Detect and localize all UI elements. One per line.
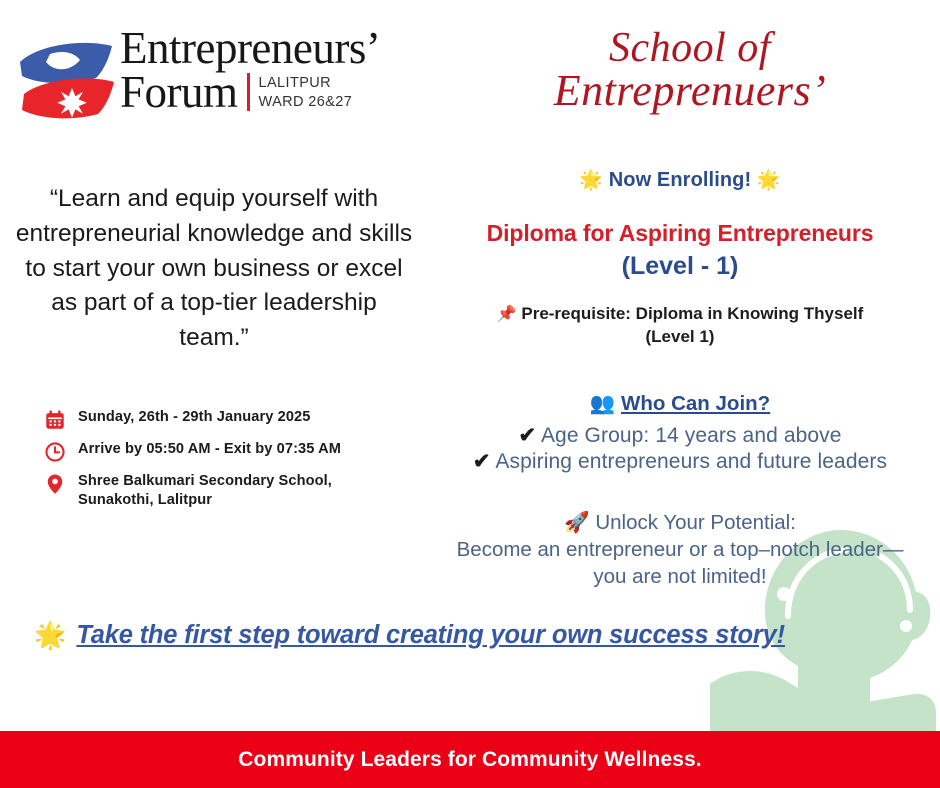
script-title-line-2: Entreprenuers’ (470, 67, 910, 115)
who-can-join-heading: 👥 Who Can Join? (432, 392, 928, 416)
calendar-icon (44, 409, 66, 431)
program-info-column: 🌟 Now Enrolling! 🌟 Diploma for Aspiring … (432, 168, 928, 590)
prerequisite-block: 📌 Pre-requisite: Diploma in Knowing Thys… (432, 303, 928, 349)
busts-in-silhouette-icon: 👥 (590, 392, 616, 415)
who-can-join-list: ✔ Age Group: 14 years and above ✔ Aspiri… (432, 423, 928, 477)
call-to-action-text: Take the first step toward creating your… (76, 621, 785, 650)
list-item: ✔ Aspiring entrepreneurs and future lead… (432, 449, 928, 476)
star-icon: 🌟 (34, 620, 66, 651)
footer-bar: Community Leaders for Community Wellness… (0, 731, 940, 788)
logo-subtitle-line-1: LALITPUR (259, 75, 332, 91)
diploma-title: Diploma for Aspiring Entrepreneurs (432, 220, 928, 247)
flyer-header: Entrepreneurs’ Forum LALITPUR WARD 26&27… (0, 0, 940, 160)
unlock-line-3: you are not limited! (432, 563, 928, 590)
list-item-label: Age Group: 14 years and above (541, 424, 842, 447)
event-detail-location: Shree Balkumari Secondary School, Sunako… (44, 472, 414, 511)
now-enrolling-label: Now Enrolling! (609, 169, 752, 191)
checkmark-icon: ✔ (518, 424, 536, 447)
logo-line-1: Entrepreneurs’ (120, 26, 380, 70)
list-item-label: Aspiring entrepreneurs and future leader… (495, 450, 887, 473)
event-detail-time: Arrive by 05:50 AM - Exit by 07:35 AM (44, 440, 414, 463)
nepal-flag-brush-logo-icon (16, 28, 116, 132)
list-item: ✔ Age Group: 14 years and above (432, 423, 928, 450)
entrepreneurs-forum-logo: Entrepreneurs’ Forum LALITPUR WARD 26&27 (16, 24, 380, 132)
event-date-text: Sunday, 26th - 29th January 2025 (78, 408, 310, 427)
prerequisite-text: Pre-requisite: Diploma in Knowing Thysel… (521, 304, 863, 323)
star-icon-left: 🌟 (579, 170, 603, 191)
pushpin-icon: 📌 (497, 306, 517, 323)
now-enrolling-banner: 🌟 Now Enrolling! 🌟 (432, 168, 928, 192)
unlock-line-1: Unlock Your Potential: (595, 511, 796, 534)
event-detail-date: Sunday, 26th - 29th January 2025 (44, 408, 414, 431)
event-time-text: Arrive by 05:50 AM - Exit by 07:35 AM (78, 440, 341, 459)
call-to-action: 🌟 Take the first step toward creating yo… (34, 620, 906, 651)
footer-tagline: Community Leaders for Community Wellness… (238, 748, 701, 772)
logo-divider (247, 73, 250, 111)
school-of-entrepreneurs-title: School of Entreprenuers’ (470, 26, 910, 115)
checkmark-icon: ✔ (473, 450, 491, 473)
rocket-icon: 🚀 (564, 511, 590, 534)
script-title-line-1: School of (470, 26, 910, 71)
diploma-level-label: (Level - 1) (432, 252, 928, 281)
clock-icon (44, 441, 66, 463)
flyer-canvas: Entrepreneurs’ Forum LALITPUR WARD 26&27… (0, 0, 940, 788)
prerequisite-level: (Level 1) (432, 326, 928, 349)
unlock-potential-block: 🚀 Unlock Your Potential: Become an entre… (432, 509, 928, 590)
logo-subtitle-line-2: WARD 26&27 (259, 94, 353, 110)
who-can-join-label: Who Can Join? (621, 392, 770, 415)
logo-line-2: Forum (120, 70, 238, 115)
event-location-text: Shree Balkumari Secondary School, Sunako… (78, 472, 332, 511)
location-pin-icon (44, 473, 66, 495)
star-icon-right: 🌟 (757, 170, 781, 191)
unlock-line-2: Become an entrepreneur or a top–notch le… (432, 536, 928, 563)
mission-quote: “Learn and equip yourself with entrepren… (14, 182, 414, 356)
logo-subtitle: LALITPUR WARD 26&27 (259, 74, 353, 116)
event-details-list: Sunday, 26th - 29th January 2025 Arrive … (44, 408, 414, 511)
